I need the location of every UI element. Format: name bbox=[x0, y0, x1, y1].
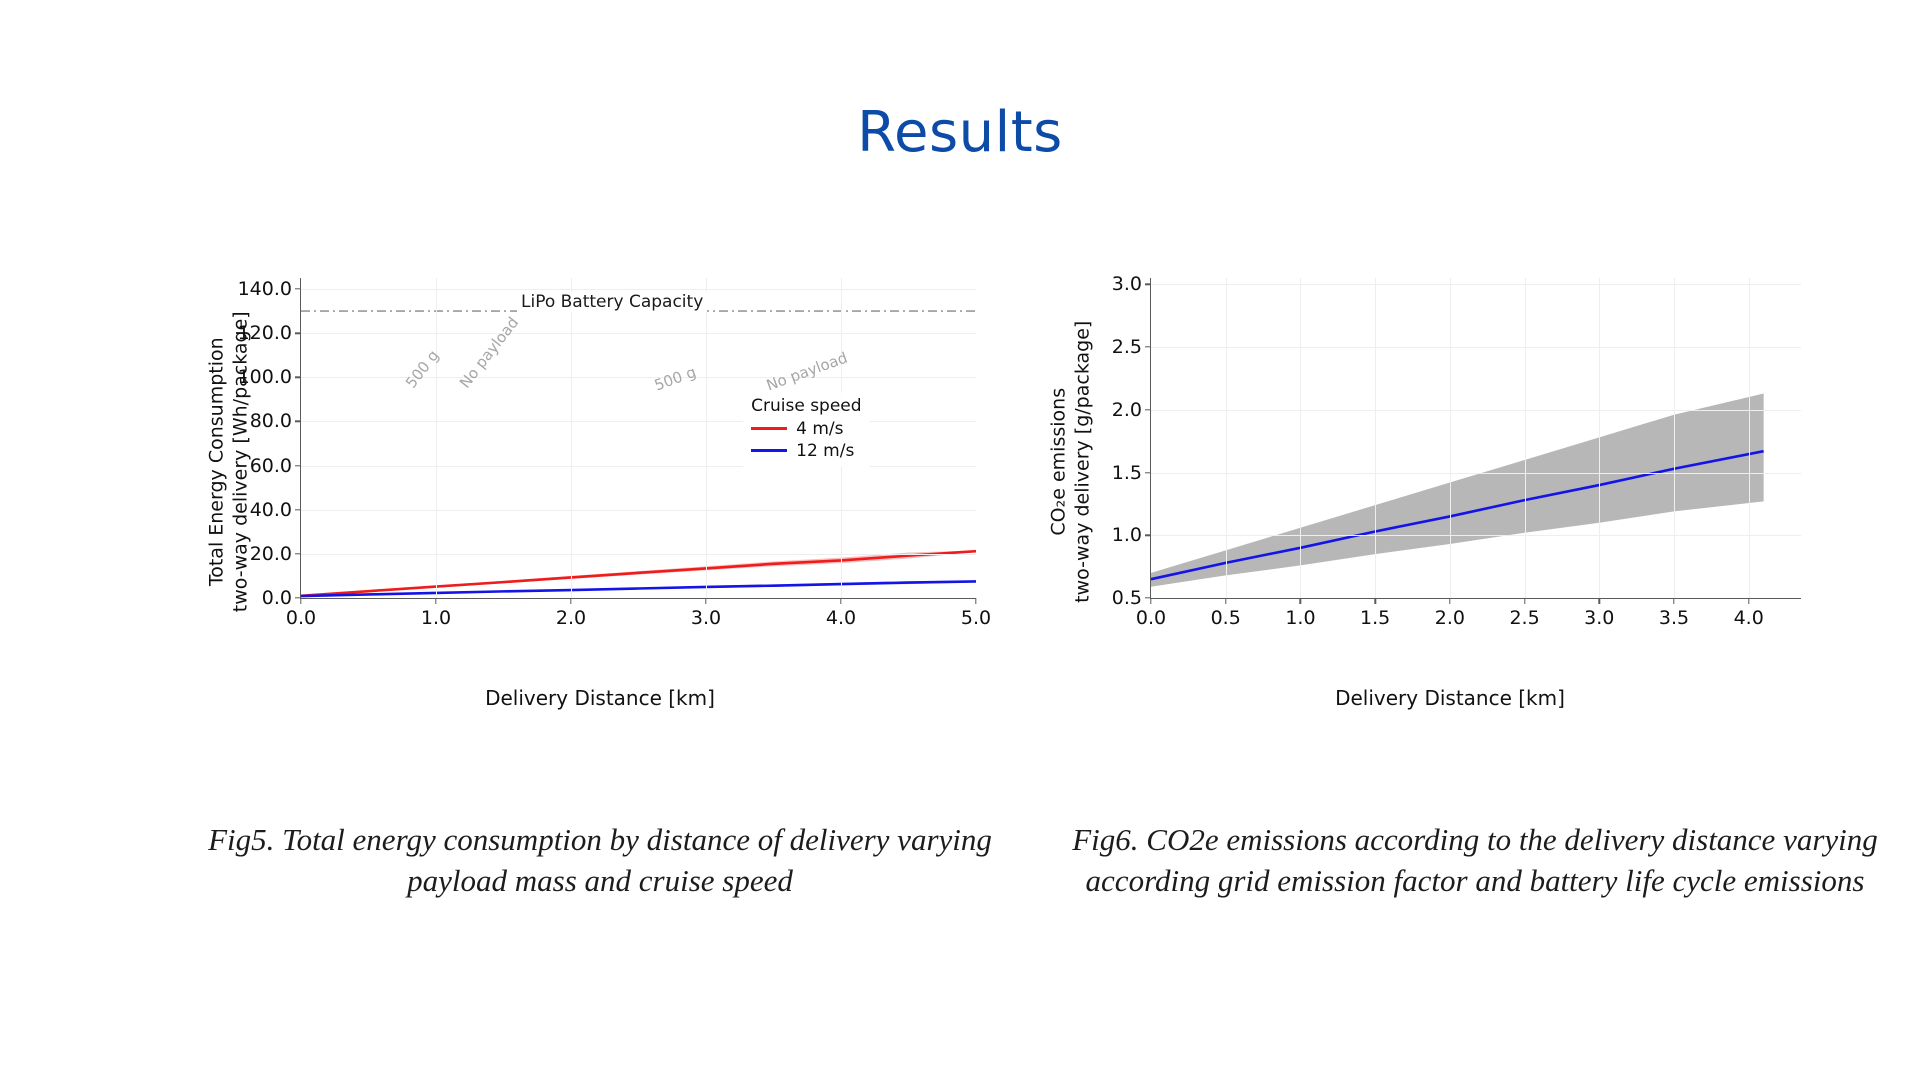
x-tick-label: 1.0 bbox=[421, 607, 451, 629]
y-axis-label-line1: CO₂e emissions bbox=[1047, 388, 1069, 536]
y-axis-label-fig5: Total Energy Consumption two-way deliver… bbox=[206, 311, 254, 612]
x-tick-label: 1.0 bbox=[1285, 607, 1315, 629]
uncertainty-band-co2e-emissions bbox=[1151, 393, 1764, 586]
gridline-horizontal bbox=[301, 289, 976, 290]
x-tick-mark bbox=[1225, 598, 1226, 604]
x-tick-label: 2.0 bbox=[556, 607, 586, 629]
y-tick-mark bbox=[295, 553, 301, 554]
page-title: Results bbox=[0, 100, 1920, 165]
legend-item-label: 12 m/s bbox=[796, 441, 854, 461]
x-tick-mark bbox=[1524, 598, 1525, 604]
y-tick-mark bbox=[295, 288, 301, 289]
y-tick-label: 80.0 bbox=[250, 410, 292, 432]
y-tick-mark bbox=[295, 377, 301, 378]
gridline-horizontal bbox=[301, 333, 976, 334]
legend-color-swatch-icon bbox=[751, 427, 787, 429]
gridline-vertical bbox=[1599, 278, 1600, 598]
y-tick-label: 0.0 bbox=[262, 587, 292, 609]
x-tick-label: 2.0 bbox=[1435, 607, 1465, 629]
gridline-vertical bbox=[1525, 278, 1526, 598]
axes-fig6: 0.51.01.52.02.53.00.00.51.01.52.02.53.03… bbox=[1150, 278, 1801, 599]
y-axis-label-line1: Total Energy Consumption bbox=[206, 337, 228, 586]
y-tick-label: 2.0 bbox=[1112, 399, 1142, 421]
x-tick-mark bbox=[1673, 598, 1674, 604]
x-tick-label: 3.0 bbox=[1584, 607, 1614, 629]
y-tick-label: 40.0 bbox=[250, 499, 292, 521]
figure-caption-fig5: Fig5. Total energy consumption by distan… bbox=[170, 820, 1030, 902]
y-tick-mark bbox=[1145, 535, 1151, 536]
y-tick-label: 60.0 bbox=[250, 455, 292, 477]
figure-caption-fig6: Fig6. CO2e emissions according to the de… bbox=[1035, 820, 1915, 902]
gridline-horizontal bbox=[301, 510, 976, 511]
y-tick-mark bbox=[1145, 284, 1151, 285]
x-tick-label: 1.5 bbox=[1360, 607, 1390, 629]
y-tick-label: 0.5 bbox=[1112, 587, 1142, 609]
x-tick-label: 3.5 bbox=[1659, 607, 1689, 629]
x-tick-mark bbox=[300, 598, 301, 604]
x-tick-mark bbox=[1374, 598, 1375, 604]
x-tick-label: 2.5 bbox=[1509, 607, 1539, 629]
legend-title: Cruise speed bbox=[751, 396, 861, 416]
x-tick-mark bbox=[435, 598, 436, 604]
y-tick-mark bbox=[1145, 472, 1151, 473]
gridline-horizontal bbox=[1151, 410, 1801, 411]
gridline-horizontal bbox=[1151, 473, 1801, 474]
y-tick-label: 120.0 bbox=[238, 322, 292, 344]
x-tick-label: 4.0 bbox=[1734, 607, 1764, 629]
y-tick-label: 100.0 bbox=[238, 366, 292, 388]
x-tick-mark bbox=[1599, 598, 1600, 604]
x-tick-label: 4.0 bbox=[826, 607, 856, 629]
y-tick-label: 3.0 bbox=[1112, 273, 1142, 295]
slide-root: Results Total Energy Consumption two-way… bbox=[0, 0, 1920, 1080]
gridline-horizontal bbox=[1151, 284, 1801, 285]
gridline-horizontal bbox=[301, 466, 976, 467]
x-tick-label: 5.0 bbox=[961, 607, 991, 629]
x-tick-mark bbox=[1748, 598, 1749, 604]
gridline-horizontal bbox=[1151, 347, 1801, 348]
chart-canvas-fig5 bbox=[301, 278, 976, 598]
x-tick-mark bbox=[840, 598, 841, 604]
gridline-vertical bbox=[571, 278, 572, 598]
x-tick-mark bbox=[1300, 598, 1301, 604]
gridline-vertical bbox=[1674, 278, 1675, 598]
gridline-vertical bbox=[706, 278, 707, 598]
y-tick-label: 1.5 bbox=[1112, 462, 1142, 484]
y-tick-mark bbox=[295, 421, 301, 422]
gridline-vertical bbox=[1375, 278, 1376, 598]
x-tick-label: 3.0 bbox=[691, 607, 721, 629]
x-tick-mark bbox=[1449, 598, 1450, 604]
x-tick-label: 0.0 bbox=[286, 607, 316, 629]
data-line-co2e-emissions bbox=[1151, 451, 1764, 579]
x-tick-mark bbox=[975, 598, 976, 604]
gridline-vertical bbox=[1226, 278, 1227, 598]
plot-area-fig6: CO₂e emissions two-way delivery [g/packa… bbox=[1040, 270, 1860, 650]
x-tick-mark bbox=[705, 598, 706, 604]
legend-item[interactable]: 4 m/s bbox=[751, 419, 861, 439]
y-tick-label: 1.0 bbox=[1112, 524, 1142, 546]
threshold-label: LiPo Battery Capacity bbox=[517, 292, 707, 312]
gridline-vertical bbox=[1450, 278, 1451, 598]
gridline-horizontal bbox=[301, 554, 976, 555]
chart-legend[interactable]: Cruise speed4 m/s12 m/s bbox=[743, 392, 869, 467]
gridline-vertical bbox=[1749, 278, 1750, 598]
x-tick-mark bbox=[570, 598, 571, 604]
gridline-horizontal bbox=[301, 421, 976, 422]
y-tick-mark bbox=[1145, 346, 1151, 347]
figure-fig6: CO₂e emissions two-way delivery [g/packa… bbox=[1040, 270, 1860, 650]
y-axis-label-line2: two-way delivery [Wh/package] bbox=[229, 311, 251, 612]
figure-fig5: Total Energy Consumption two-way deliver… bbox=[195, 270, 1005, 650]
chart-canvas-fig6 bbox=[1151, 278, 1801, 598]
gridline-vertical bbox=[436, 278, 437, 598]
legend-item-label: 4 m/s bbox=[796, 419, 843, 439]
y-tick-label: 140.0 bbox=[238, 278, 292, 300]
y-tick-mark bbox=[1145, 409, 1151, 410]
x-tick-mark bbox=[1150, 598, 1151, 604]
y-tick-mark bbox=[295, 509, 301, 510]
x-tick-label: 0.0 bbox=[1136, 607, 1166, 629]
y-tick-label: 2.5 bbox=[1112, 336, 1142, 358]
x-axis-label-fig5: Delivery Distance [km] bbox=[195, 686, 1005, 710]
gridline-horizontal bbox=[1151, 535, 1801, 536]
y-axis-label-fig6: CO₂e emissions two-way delivery [g/packa… bbox=[1047, 321, 1095, 603]
y-tick-mark bbox=[295, 332, 301, 333]
y-tick-label: 20.0 bbox=[250, 543, 292, 565]
plot-area-fig5: Total Energy Consumption two-way deliver… bbox=[195, 270, 1005, 650]
x-axis-label-fig6: Delivery Distance [km] bbox=[1040, 686, 1860, 710]
y-tick-mark bbox=[295, 465, 301, 466]
y-axis-label-line2: two-way delivery [g/package] bbox=[1071, 321, 1093, 603]
axes-fig5: 0.020.040.060.080.0100.0120.0140.00.01.0… bbox=[300, 278, 976, 599]
gridline-vertical bbox=[1300, 278, 1301, 598]
x-tick-label: 0.5 bbox=[1211, 607, 1241, 629]
legend-item[interactable]: 12 m/s bbox=[751, 441, 861, 461]
legend-color-swatch-icon bbox=[751, 449, 787, 451]
